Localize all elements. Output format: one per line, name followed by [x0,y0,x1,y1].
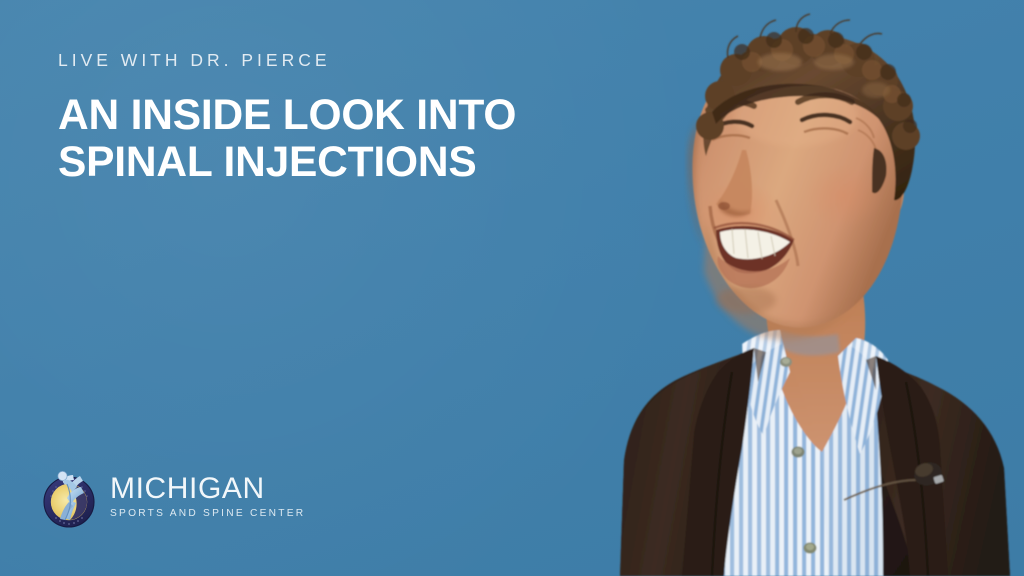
logo-title: MICHIGAN [110,474,305,504]
logo-wordmark: MICHIGAN SPORTS AND SPINE CENTER [110,474,305,519]
logo-subtitle: SPORTS AND SPINE CENTER [110,509,305,519]
headline-block: LIVE WITH DR. PIERCE AN INSIDE LOOK INTO… [58,52,618,186]
headline-line-1: AN INSIDE LOOK INTO [58,92,618,139]
brand-logo[interactable]: MICHIGAN SPORTS AND SPINE CENTER [40,466,305,528]
michigan-sports-spine-emblem-icon [40,466,98,528]
eyebrow-text: LIVE WITH DR. PIERCE [58,52,618,70]
promo-banner: LIVE WITH DR. PIERCE AN INSIDE LOOK INTO… [0,0,1024,576]
headline-line-2: SPINAL INJECTIONS [58,139,618,186]
page-title: AN INSIDE LOOK INTO SPINAL INJECTIONS [58,92,618,186]
